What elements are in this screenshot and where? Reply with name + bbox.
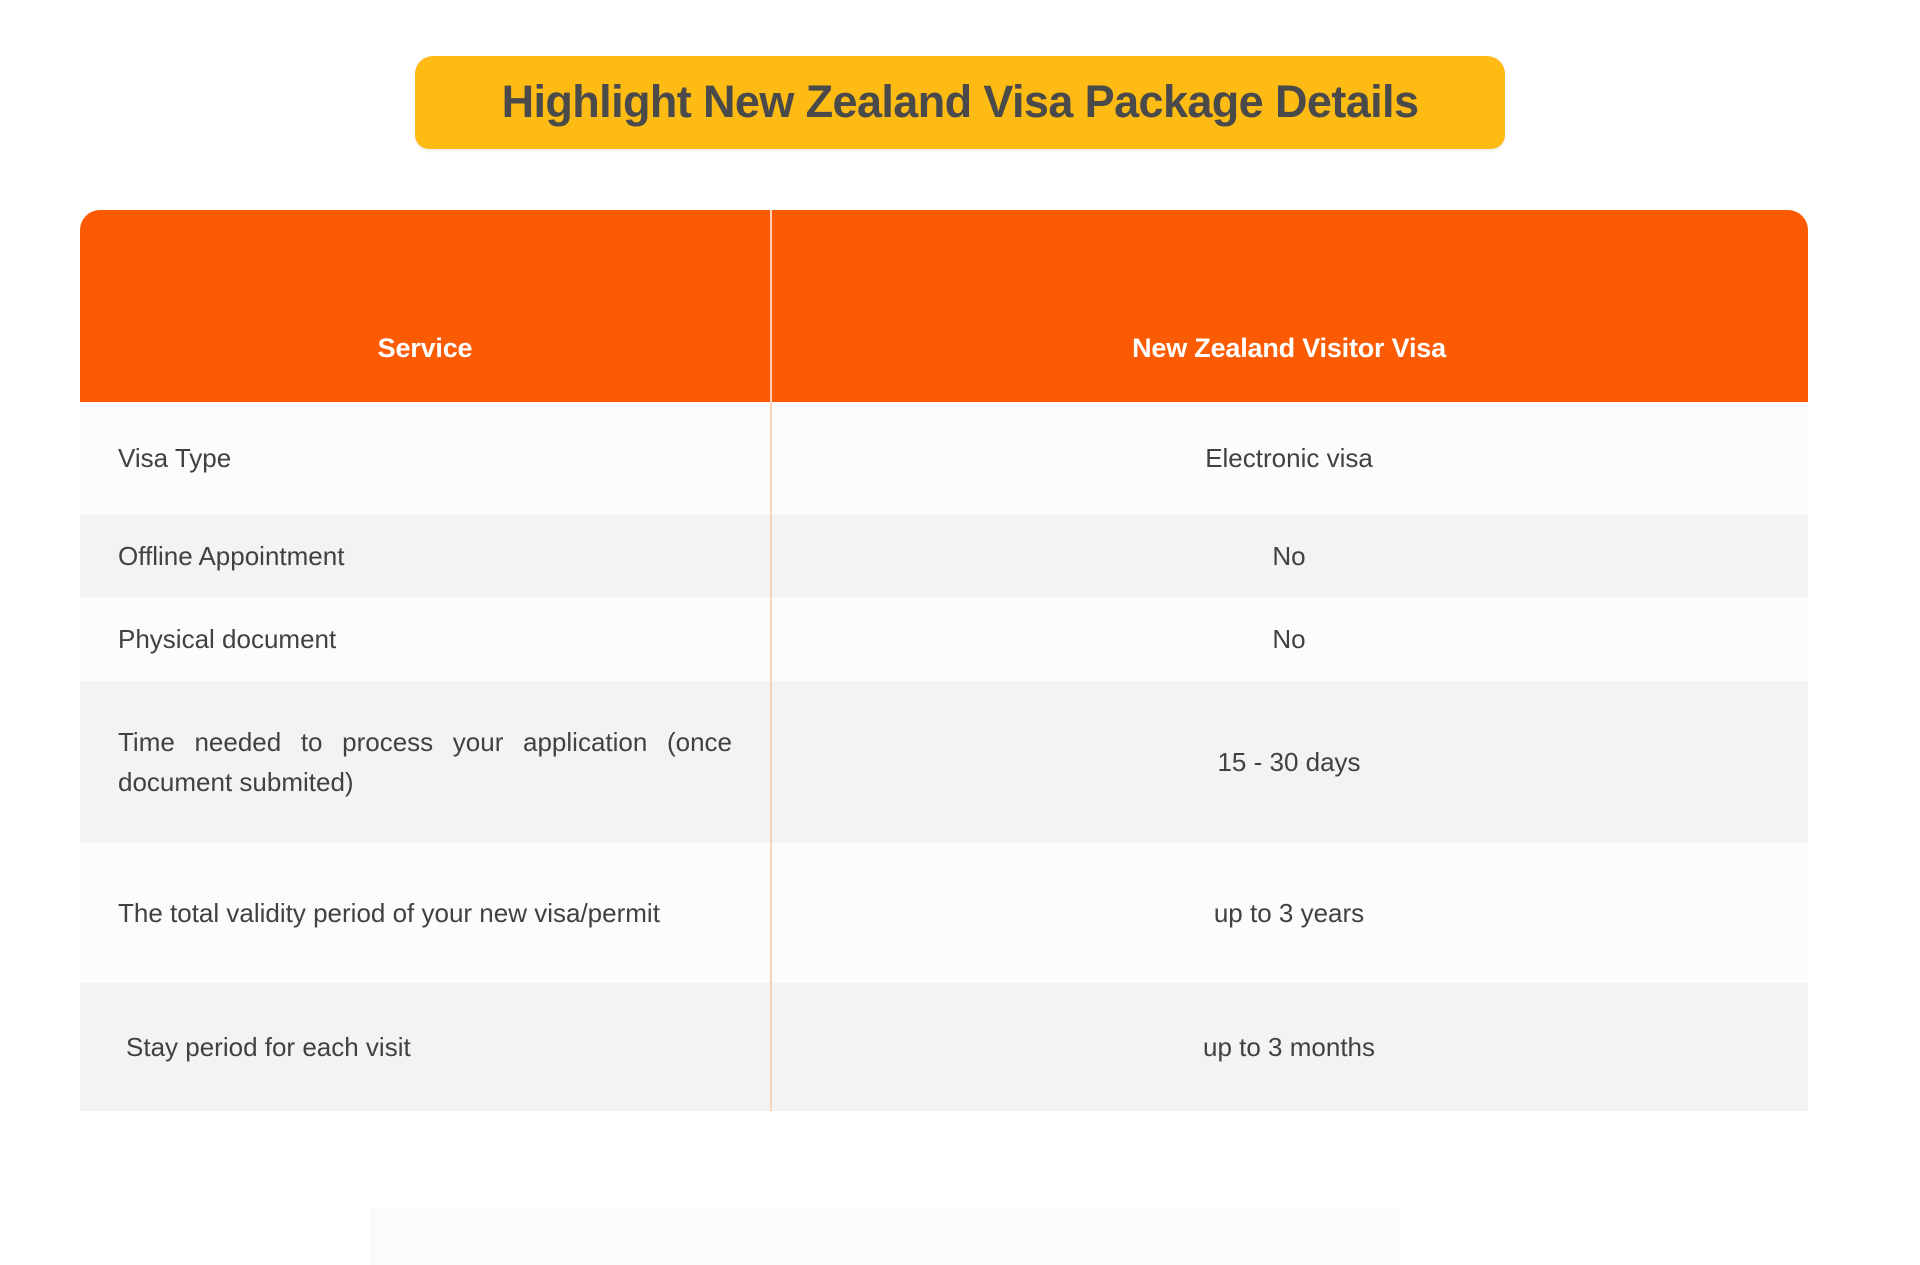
row-value-validity-period: up to 3 years — [770, 843, 1808, 983]
table-row: Time needed to process your application … — [80, 681, 1808, 843]
column-header-service: Service — [80, 210, 770, 402]
column-header-visa: New Zealand Visitor Visa — [770, 210, 1808, 402]
page-root: Highlight New Zealand Visa Package Detai… — [0, 0, 1920, 1265]
row-label-validity-period-cell: The total validity period of your new vi… — [80, 843, 770, 983]
row-value-stay-period: up to 3 months — [770, 983, 1808, 1111]
title-banner-container: Highlight New Zealand Visa Package Detai… — [0, 56, 1920, 149]
visa-package-table: Service New Zealand Visitor Visa Visa Ty… — [80, 210, 1808, 1111]
row-label-processing-time-cell: Time needed to process your application … — [80, 681, 770, 843]
table-header-row: Service New Zealand Visitor Visa — [80, 210, 1808, 402]
header-column-divider — [770, 210, 772, 402]
page-title: Highlight New Zealand Visa Package Detai… — [461, 78, 1459, 125]
row-label-visa-type: Visa Type — [80, 402, 770, 515]
row-value-offline-appointment: No — [770, 515, 1808, 597]
table-row: Offline Appointment No — [80, 515, 1808, 597]
row-value-processing-time: 15 - 30 days — [770, 681, 1808, 843]
table-row: Visa Type Electronic visa — [80, 402, 1808, 515]
row-label-validity-period: The total validity period of your new vi… — [118, 893, 732, 933]
row-value-physical-document: No — [770, 597, 1808, 681]
row-label-physical-document: Physical document — [80, 597, 770, 681]
row-label-processing-time: Time needed to process your application … — [118, 722, 732, 803]
table-row: The total validity period of your new vi… — [80, 843, 1808, 983]
title-banner: Highlight New Zealand Visa Package Detai… — [415, 56, 1505, 149]
row-value-visa-type: Electronic visa — [770, 402, 1808, 515]
table-row: Physical document No — [80, 597, 1808, 681]
table-body: Visa Type Electronic visa Offline Appoin… — [80, 402, 1808, 1111]
row-label-stay-period: Stay period for each visit — [126, 1027, 446, 1067]
clipped-bottom-panel — [370, 1208, 1400, 1265]
row-label-offline-appointment: Offline Appointment — [80, 515, 770, 597]
row-label-stay-period-cell: Stay period for each visit — [80, 983, 770, 1111]
table-row: Stay period for each visit up to 3 month… — [80, 983, 1808, 1111]
